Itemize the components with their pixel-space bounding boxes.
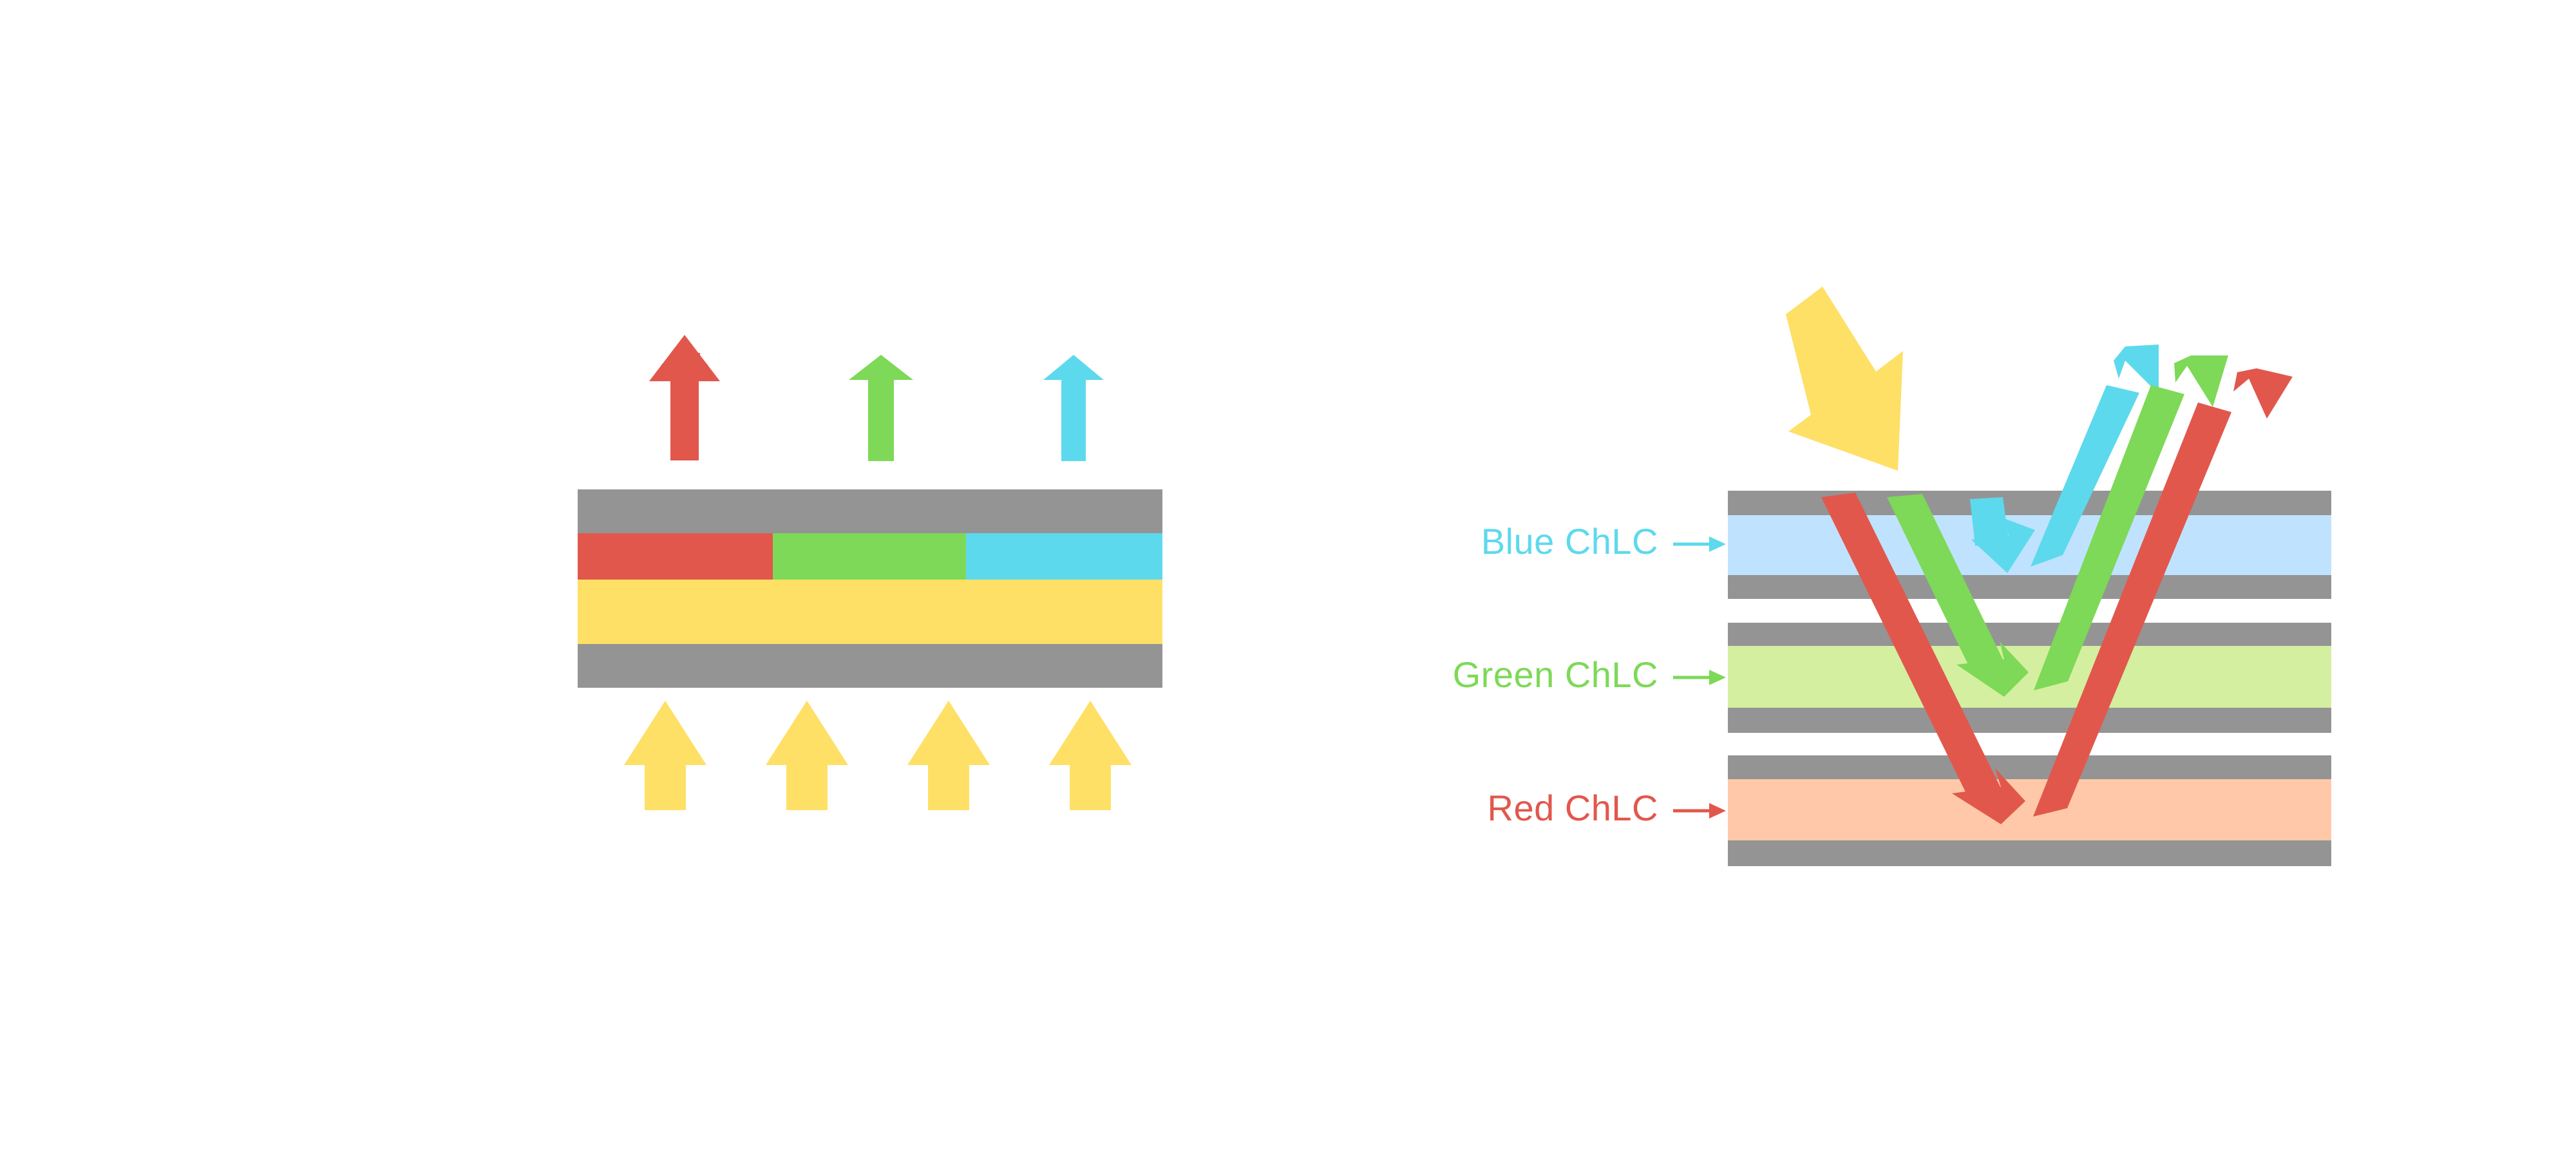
red-cell-bottom-electrode — [1728, 840, 2331, 866]
blue-filter-segment — [966, 533, 1162, 580]
blue-emitted-arrow-shaft — [1061, 366, 1086, 461]
green-emitted-arrow-shaft — [868, 366, 894, 461]
incident-light-arrow — [1786, 287, 1903, 471]
red-filter-segment — [578, 533, 773, 580]
green-emitted-arrow-head — [849, 355, 913, 380]
blue-chlc-layer — [1728, 515, 2331, 575]
blue-cell-bottom-electrode — [1728, 575, 2331, 599]
red-emitted-arrow — [649, 335, 720, 460]
backlight-arrow-head — [907, 701, 990, 765]
backlight-arrow-4 — [1049, 701, 1132, 810]
green-cell-top-electrode — [1728, 623, 2331, 646]
green-cell-bottom-electrode — [1728, 708, 2331, 733]
red-chlc-layer — [1728, 779, 2331, 840]
green-chlc-cell — [1728, 623, 2331, 733]
red-cell-top-electrode — [1728, 755, 2331, 779]
blue-emitted-arrow-head — [1043, 355, 1104, 380]
backlight-arrow-head — [624, 701, 706, 765]
red-emitted-arrow-head — [649, 335, 720, 381]
red-up-ray-head — [2233, 368, 2293, 419]
right-reflective-stack: Blue ChLC Green ChLC Red ChLC — [1453, 287, 2331, 866]
left-emissive-stack — [578, 335, 1162, 810]
green-chlc-label: Green ChLC — [1453, 654, 1726, 695]
green-filter-segment — [773, 533, 966, 580]
blue-chlc-label-text: Blue ChLC — [1481, 521, 1658, 562]
green-chlc-label-text: Green ChLC — [1453, 654, 1658, 695]
diagram-svg: Blue ChLC Green ChLC Red ChLC — [0, 0, 2576, 1154]
backlight-arrow-shaft — [928, 760, 969, 810]
red-chlc-label-text: Red ChLC — [1488, 788, 1658, 828]
incident-light-arrow-shape — [1786, 287, 1903, 471]
backlight-arrow-shaft — [1070, 760, 1111, 810]
top-electrode-layer — [578, 489, 1162, 533]
red-chlc-label-arrow-head — [1709, 803, 1726, 818]
backlight-arrow-3 — [907, 701, 990, 810]
backlight-arrow-shaft — [786, 760, 828, 810]
blue-cell-top-electrode — [1728, 491, 2331, 515]
green-emitted-arrow — [849, 355, 913, 461]
backlight-layer — [578, 580, 1162, 644]
backlight-arrow-head — [766, 701, 848, 765]
bottom-electrode-layer — [578, 644, 1162, 688]
backlight-arrow-shaft — [645, 760, 686, 810]
color-filter-layer — [578, 533, 1162, 580]
blue-chlc-label-arrow-head — [1709, 536, 1726, 552]
blue-chlc-cell — [1728, 491, 2331, 599]
blue-emitted-arrow — [1043, 355, 1104, 461]
diagram-canvas: Blue ChLC Green ChLC Red ChLC — [0, 0, 2576, 1154]
backlight-arrow-1 — [624, 701, 706, 810]
blue-chlc-label: Blue ChLC — [1481, 521, 1726, 562]
backlight-arrow-2 — [766, 701, 848, 810]
green-chlc-label-arrow-head — [1709, 670, 1726, 685]
red-chlc-label: Red ChLC — [1488, 788, 1726, 828]
green-chlc-layer — [1728, 646, 2331, 708]
backlight-arrow-head — [1049, 701, 1132, 765]
red-chlc-cell — [1728, 755, 2331, 866]
backlight-arrows — [624, 701, 1132, 810]
